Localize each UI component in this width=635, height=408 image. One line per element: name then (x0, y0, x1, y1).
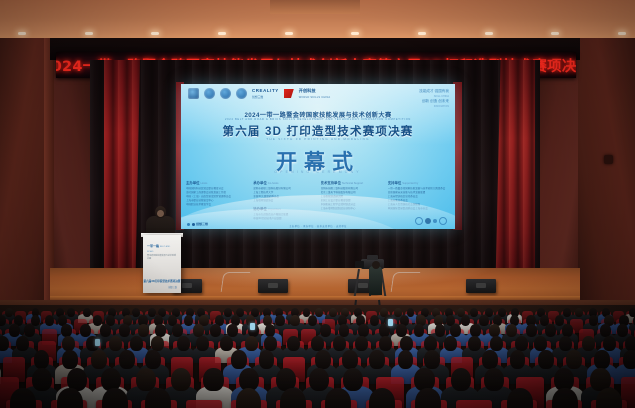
ceiling-panel (270, 0, 360, 14)
auditorium-seat (186, 400, 222, 408)
audience-member-head (424, 350, 440, 369)
screen-column-1-heading: 主办单位 Hosts (186, 180, 248, 185)
audience-member-head (468, 336, 481, 351)
audience-member-head (177, 336, 190, 351)
audience-member-head (227, 324, 238, 337)
audience-member-head (342, 350, 358, 369)
audience-member-head (534, 336, 547, 351)
audience-member-head (34, 350, 50, 369)
audience-member-head (9, 324, 20, 337)
wall-right-wood-panel (575, 38, 635, 308)
podium-line1: 一带一路 BELT AND ROAD (147, 244, 177, 255)
screen-column-3-heading-en: Technical Support (342, 182, 363, 185)
auditorium-photo: 2024一带一路暨金砖国家技能发展与技术创新大赛第六届3D打印造型技术赛项决赛 … (0, 0, 635, 408)
audience-member-head (506, 324, 517, 337)
audience-member-head (171, 368, 191, 392)
audience-member-head (424, 336, 437, 351)
audience-member-head (555, 315, 564, 326)
audience-member-head (275, 315, 284, 326)
partner-wordmark: 开创科技 WORLD SKILLS CHINA (299, 88, 331, 99)
screen-slogan-en2: INNOVATION (419, 105, 449, 109)
screen-column-2-heading-en: Co-hosts (268, 182, 279, 185)
audience-member-head (333, 336, 346, 351)
audience-member-head (67, 308, 75, 317)
audience-member-head (369, 388, 395, 408)
org-emblem-4-icon (236, 88, 247, 99)
audience-member-head (582, 336, 595, 351)
audience-member-head (343, 368, 363, 392)
downlight-2 (85, 32, 93, 35)
screen-headline-small-en: 2024 BELT AND ROAD & BRICS SKILLS DEVELO… (181, 118, 455, 121)
audience-member-head (563, 308, 571, 317)
audience-member-head (119, 324, 130, 337)
audience-member-head (329, 308, 337, 317)
stage-monitor-speaker-4 (466, 279, 496, 293)
audience-member-head (203, 368, 223, 392)
stage-monitor-speaker-2 (258, 279, 288, 293)
org-emblem-1-icon (188, 88, 199, 99)
screen-footer-text: 主办单位 · 承办单位 · 技术支持单位 · 支持单位 (181, 224, 455, 228)
audience-member-head (210, 324, 221, 337)
downlight-6 (351, 32, 359, 35)
audience-member-head (80, 324, 91, 337)
org-emblem-2-icon (204, 88, 215, 99)
screen-slogan-line1: 技能成才 强国有我 (419, 89, 449, 95)
screen-column-2-heading: 承办单位 Co-hosts (253, 180, 315, 185)
audience-member-head (231, 350, 247, 369)
audience-member-head (510, 350, 526, 369)
audience-member-head (315, 350, 331, 369)
audience-member-head (100, 324, 111, 337)
audience-member-head (224, 308, 232, 317)
mic-stand-left (221, 272, 251, 292)
audience-member-head (623, 350, 635, 369)
audience-member-head (280, 388, 306, 408)
audience-member-head (414, 324, 425, 337)
camera-operator-head (372, 261, 380, 269)
audience-member-head (308, 315, 317, 326)
screen-column-4-heading-en: Supported by (402, 182, 418, 185)
audience-member-head (119, 350, 135, 369)
audience-member-head (594, 350, 610, 369)
audience-member-head (398, 350, 414, 369)
podium-line2: 暨金砖国家技能发展与技术创新大赛 (147, 255, 177, 262)
audience-member-head (24, 324, 35, 337)
audience-member-head (309, 368, 329, 392)
audience-member-head (109, 336, 122, 351)
audience-member-head (102, 388, 128, 408)
audience-member-head (545, 324, 556, 337)
audience-member-head (369, 350, 385, 369)
audience-member-head (484, 368, 504, 392)
video-camera-hood (367, 255, 378, 260)
screen-column-3-heading: 技术支持单位 Technical Support (321, 180, 383, 185)
audience-member-head (138, 324, 149, 337)
wall-vent (604, 155, 613, 164)
audience-member-head (320, 324, 331, 337)
audience-member-head (355, 336, 368, 351)
audience-member-head (490, 336, 503, 351)
audience-member-head (450, 324, 461, 337)
audience-member-head (526, 324, 537, 337)
downlight-5 (285, 32, 293, 35)
audience-member-head (435, 324, 446, 337)
video-camera-lens (355, 261, 364, 268)
audience-member-head (259, 350, 275, 369)
org-emblem-3-icon (220, 88, 231, 99)
audience-member-head (264, 336, 277, 351)
partner-name: 开创科技 (299, 88, 316, 93)
audience-area (0, 305, 635, 408)
podium-line3: 第六届3D打印造型技术赛项决赛 (143, 280, 181, 284)
audience-member-head (311, 336, 324, 351)
audience-member-head (172, 324, 183, 337)
audience-member-head (515, 336, 528, 351)
dot-small-icon (433, 219, 437, 223)
audience-member-head (32, 368, 52, 392)
mic-stand-right (391, 272, 421, 292)
audience-member-head (379, 336, 392, 351)
audience-member-head (603, 336, 616, 351)
audience-member-head (566, 350, 582, 369)
audience-member-head (482, 350, 498, 369)
screen-column-1-heading-en: Hosts (201, 182, 208, 185)
downlight-9 (551, 32, 559, 35)
podium: 一带一路 BELT AND ROAD 暨金砖国家技能发展与技术创新大赛 第六届3… (143, 235, 181, 293)
creality-name: CREALITY (252, 88, 279, 93)
downlight-1 (18, 32, 26, 35)
audience-member-head (220, 336, 233, 351)
podium-line1-text: 一带一路 (147, 244, 159, 248)
audience-member-head (538, 350, 554, 369)
audience-member-head (451, 368, 471, 392)
audience-member-head (196, 336, 209, 351)
screen-ceremony-title-en: OPENING CEREMONY (181, 170, 455, 174)
audience-member-head (5, 308, 13, 317)
audience-member-head (10, 388, 36, 408)
podium-logo-text: 创想三维 (168, 285, 177, 289)
downlight-7 (418, 32, 426, 35)
audience-member-head (83, 308, 91, 317)
projection-screen: CREALITY 创想三维 开创科技 WORLD SKILLS CHINA 技能… (181, 84, 455, 229)
screen-slogan: 技能成才 强国有我 SKILL CHINA 创新 创造 创未来 INNOVATI… (419, 89, 449, 109)
screen-column-4-heading: 支持单位 Supported by (388, 180, 450, 185)
downlight-10 (618, 32, 626, 35)
audience-member-head (470, 308, 478, 317)
partner-red-logo-icon (284, 89, 294, 98)
audience-member-head (415, 388, 441, 408)
downlight-8 (485, 32, 493, 35)
camera-operator-body (369, 266, 382, 295)
creality-wordmark: CREALITY 创想三维 (252, 88, 279, 99)
audience-member-head (596, 388, 622, 408)
downlight-3 (151, 32, 159, 35)
audience-member-head (145, 388, 171, 408)
audience-member-head (325, 388, 351, 408)
audience-member-head (245, 336, 258, 351)
audience-member-head (625, 336, 635, 351)
audience-member-head (151, 336, 164, 351)
audience-member-head (444, 336, 457, 351)
audience-member-head (370, 315, 379, 326)
audience-member-head (145, 350, 161, 369)
audience-member-head (93, 315, 102, 326)
audience-member-head (0, 315, 6, 326)
audience-member-head (589, 315, 598, 326)
audience-member-head (91, 350, 107, 369)
audience-member-head (62, 350, 78, 369)
auditorium-seat (456, 400, 492, 408)
audience-member-head (507, 388, 533, 408)
audience-member-head (461, 315, 470, 326)
creality-name-sub: 创想三维 (252, 95, 263, 99)
downlight-4 (218, 32, 226, 35)
audience-member-head (130, 336, 143, 351)
audience-member-head (62, 336, 75, 351)
audience-member-head (290, 315, 299, 326)
audience-member-head (617, 324, 628, 337)
audience-phone-screen-1 (250, 323, 255, 330)
audience-phone-screen-2 (388, 319, 393, 326)
audience-phone-screen-3 (95, 339, 100, 346)
partner-name-sub: WORLD SKILLS CHINA (299, 96, 331, 99)
audience-member-head (552, 388, 578, 408)
screen-slogan-line2: 创新 创造 创未来 (419, 99, 449, 105)
audience-member-head (559, 336, 572, 351)
speaker-person-face (157, 210, 164, 217)
audience-member-head (400, 336, 413, 351)
screen-logo-row: CREALITY 创想三维 开创科技 WORLD SKILLS CHINA (188, 88, 330, 99)
audience-member-head (16, 336, 29, 351)
screen-headline-main-en: THE SIXTH 3D PRINTING AND MODELING (181, 137, 455, 141)
audience-member-head (287, 336, 300, 351)
audience-member-head (479, 315, 488, 326)
